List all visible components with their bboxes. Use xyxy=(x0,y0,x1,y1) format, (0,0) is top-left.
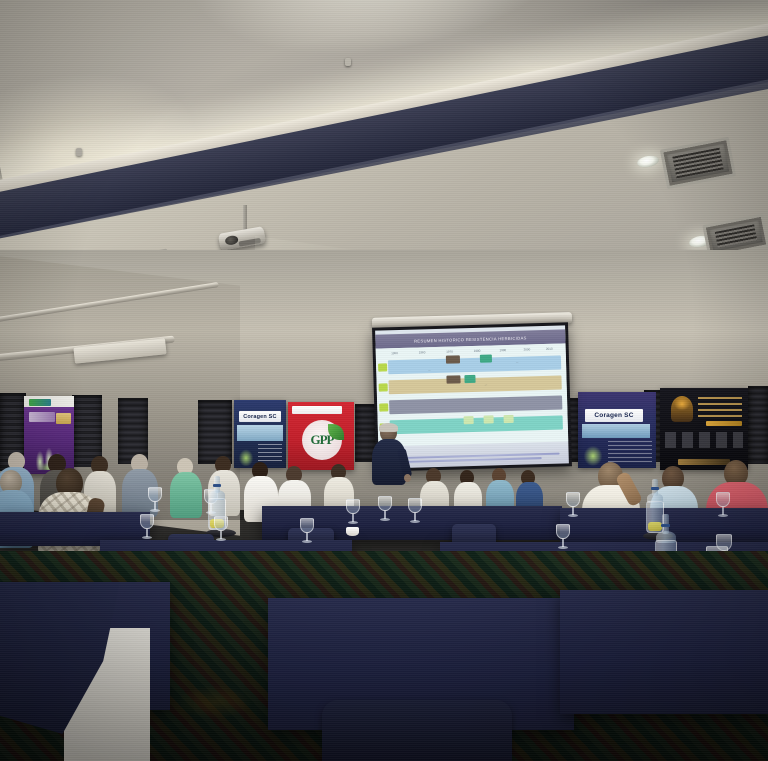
coffee-cup xyxy=(346,527,359,536)
banner-right-crop-graphic xyxy=(580,440,606,466)
axis-tick: 1970 xyxy=(446,350,453,354)
wine-glass xyxy=(566,492,580,518)
axis-tick: 1960 xyxy=(419,350,426,354)
banner-coragen-right: Coragen SC xyxy=(578,392,656,468)
axis-tick: 1950 xyxy=(391,351,398,355)
wine-glass xyxy=(408,498,422,524)
timeline-note: — xyxy=(516,361,518,364)
louver-panel xyxy=(198,400,232,464)
banner-gold-product-row xyxy=(665,432,743,448)
banner-badge xyxy=(56,413,71,424)
banner-coragen-right-plate: Coragen SC xyxy=(585,409,643,422)
timeline-chip xyxy=(464,375,475,383)
banner-dark-gold xyxy=(660,388,748,470)
slide-footnote xyxy=(384,452,564,465)
timeline-chip xyxy=(446,375,460,383)
wine-glass xyxy=(556,524,570,550)
timeline-row xyxy=(390,415,563,434)
banner-headline-text xyxy=(29,412,55,422)
timeline-row xyxy=(389,395,562,414)
banner-coragen-right-label: Coragen SC xyxy=(594,412,633,419)
timeline-chip xyxy=(484,415,494,423)
chair-foreground-overlay xyxy=(322,700,512,761)
timeline-row xyxy=(388,356,561,375)
slide-chart-area: 1950 1960 1970 1980 1990 2000 2010 — — xyxy=(376,343,569,446)
sprinkler-head-icon xyxy=(345,58,351,66)
louver-panel xyxy=(748,386,768,464)
conference-room-photo: Coragen SC GPP Coragen SC RESUMEN xyxy=(0,0,768,761)
presenter-hair xyxy=(379,423,398,432)
wine-glass xyxy=(148,487,162,513)
banquet-table-foreground-right-overlay xyxy=(560,590,768,714)
projection-screen-surface: RESUMEN HISTORICO RESISTENCIA HERBICIDAS… xyxy=(375,325,569,468)
wine-glass xyxy=(300,518,314,544)
axis-tick: 2010 xyxy=(546,347,553,351)
banner-image-strip xyxy=(237,425,283,441)
banner-coragen-label-plate: Coragen SC xyxy=(239,411,281,422)
banner-right-textblock xyxy=(608,441,652,465)
banner-gold-footer xyxy=(678,459,730,465)
timeline-chip xyxy=(504,415,514,423)
slide-title: RESUMEN HISTORICO RESISTENCIA HERBICIDAS xyxy=(414,335,527,343)
banner-gpp-top-plate xyxy=(292,406,342,414)
timeline-row-label xyxy=(378,363,387,371)
timeline-chip xyxy=(464,416,474,424)
banner-coragen-left: Coragen SC xyxy=(234,400,286,468)
banner-coragen-label: Coragen SC xyxy=(243,414,276,420)
presenter-hand xyxy=(404,474,411,482)
timeline-row-label xyxy=(379,403,388,411)
axis-tick: 1990 xyxy=(499,348,506,352)
banner-right-image-strip xyxy=(582,424,650,438)
banner-crop-graphic xyxy=(236,444,256,466)
wine-glass xyxy=(346,499,360,525)
banner-gold-headline xyxy=(698,397,742,419)
banner-gold-emblem xyxy=(671,396,693,422)
timeline-chip xyxy=(480,354,492,362)
banner-gpp-red: GPP xyxy=(288,402,354,470)
audience-torso xyxy=(170,472,202,518)
wine-glass xyxy=(378,496,392,522)
axis-tick: 2000 xyxy=(524,347,531,351)
banner-textblock xyxy=(258,444,282,464)
timeline-chip xyxy=(446,355,460,363)
timeline-row-label xyxy=(379,383,388,391)
banner-gold-subline xyxy=(706,421,742,426)
wine-glass xyxy=(716,492,730,518)
wine-glass xyxy=(214,516,228,542)
banner-logo-green xyxy=(29,399,51,406)
axis-tick: 1980 xyxy=(474,349,481,353)
sprinkler-head-icon xyxy=(76,148,82,156)
timeline-note: — xyxy=(428,369,430,372)
timeline-note: — xyxy=(485,384,487,387)
wine-glass xyxy=(140,514,154,540)
